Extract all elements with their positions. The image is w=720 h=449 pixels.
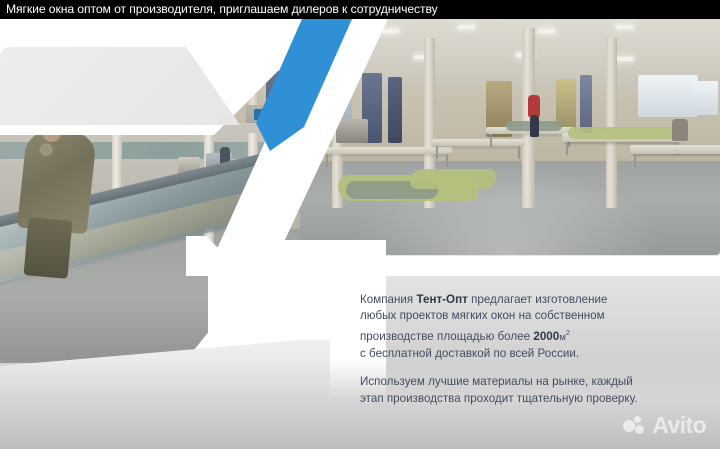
video-frame: Компания Тент-Опт предлагает изготовлени… bbox=[0, 0, 720, 449]
copy-line-5: Используем лучшие материалы на рынке, ка… bbox=[360, 374, 708, 390]
work-table bbox=[432, 139, 524, 146]
support-column bbox=[606, 38, 617, 208]
promo-copy-block: Компания Тент-Опт предлагает изготовлени… bbox=[360, 292, 708, 407]
copy-line-4: с бесплатной доставкой по всей России. bbox=[360, 346, 708, 362]
copy-line-1-pre: Компания bbox=[360, 293, 416, 306]
hanging-fabric bbox=[388, 77, 402, 143]
worker-figure bbox=[528, 95, 540, 117]
work-table bbox=[630, 145, 720, 154]
work-equipment bbox=[336, 119, 368, 143]
avito-watermark: Avito bbox=[623, 414, 706, 437]
avito-wordmark: Avito bbox=[652, 414, 706, 437]
video-title: Мягкие окна оптом от производителя, приг… bbox=[6, 1, 438, 18]
copy-line-3-pre: производстве площадью более bbox=[360, 330, 533, 343]
worker-legs bbox=[530, 115, 539, 137]
window bbox=[638, 75, 698, 117]
copy-line-2: любых проектов мягких окон на собственно… bbox=[360, 308, 708, 324]
worker-figure bbox=[672, 119, 688, 141]
area-unit: м bbox=[559, 332, 566, 343]
company-name: Тент-Опт bbox=[416, 293, 467, 306]
area-value: 2000 bbox=[533, 330, 559, 343]
fabric-on-floor bbox=[410, 169, 496, 189]
worker-legs bbox=[24, 217, 73, 279]
ceiling-light-icon bbox=[382, 29, 399, 33]
avito-logo-icon bbox=[623, 416, 649, 436]
ceiling-light-icon bbox=[616, 57, 633, 61]
ceiling-light-icon bbox=[458, 25, 475, 29]
copy-line-1-post: предлагает изготовление bbox=[468, 293, 608, 306]
copy-spacer bbox=[360, 362, 708, 374]
copy-line-3: производстве площадью более 2000м2 bbox=[360, 325, 708, 346]
copy-line-6: этап производства проходит тщательную пр… bbox=[360, 391, 708, 407]
area-unit-exponent: 2 bbox=[566, 328, 570, 337]
ceiling-light-icon bbox=[616, 25, 633, 29]
ceiling-light-icon bbox=[538, 29, 555, 33]
fabric-roll bbox=[568, 127, 680, 139]
window bbox=[692, 81, 718, 115]
work-table bbox=[322, 147, 452, 154]
copy-line-1: Компания Тент-Опт предлагает изготовлени… bbox=[360, 292, 708, 308]
video-title-bar: Мягкие окна оптом от производителя, приг… bbox=[0, 0, 720, 19]
